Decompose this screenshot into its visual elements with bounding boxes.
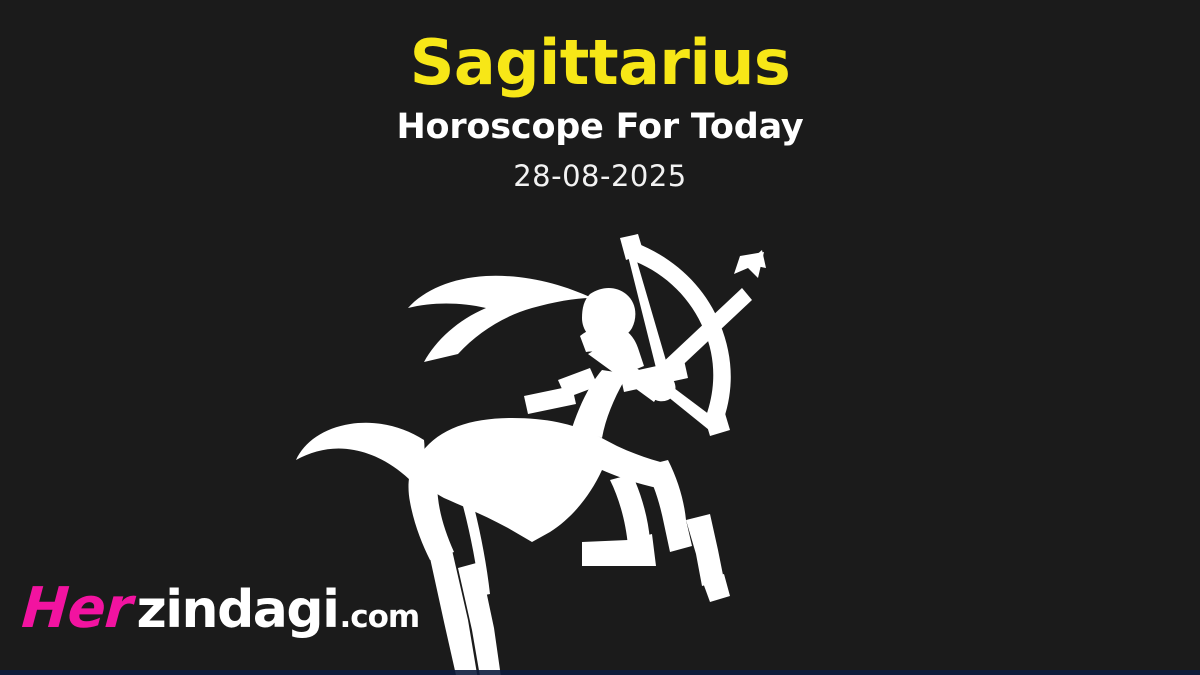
footer-accent-strip [0,670,1200,675]
header-block: Sagittarius Horoscope For Today 28-08-20… [0,0,1200,192]
horoscope-card: Sagittarius Horoscope For Today 28-08-20… [0,0,1200,675]
brand-logo[interactable]: Her zindagi .com [22,581,419,637]
page-title: Sagittarius [0,0,1200,95]
logo-tld-text: .com [339,602,419,633]
logo-her-text: Her [20,581,133,637]
subtitle: Horoscope For Today [0,95,1200,147]
logo-zindagi-text: zindagi [136,584,338,636]
date-label: 28-08-2025 [0,147,1200,193]
